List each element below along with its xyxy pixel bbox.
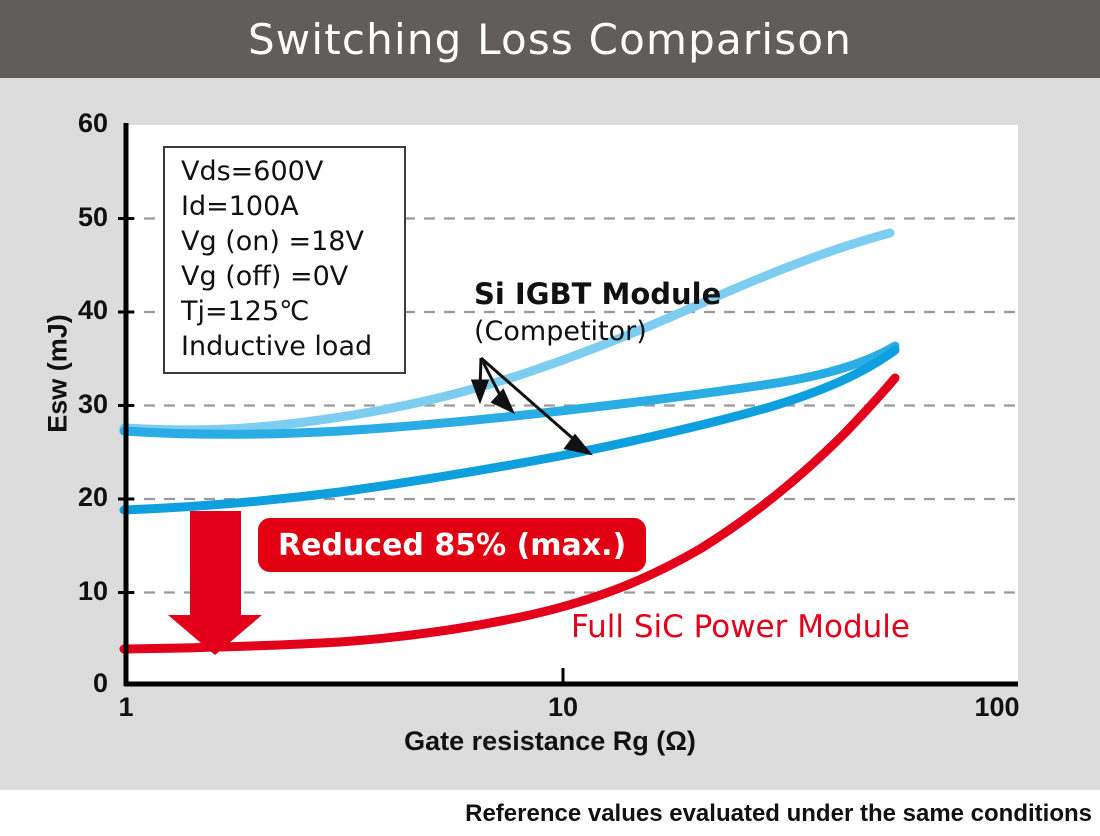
- xtick-label-100: 100: [957, 692, 1037, 723]
- reduced-badge: Reduced 85% (max.): [258, 518, 646, 572]
- title-bar: Switching Loss Comparison: [0, 0, 1100, 78]
- condition-line-vds: Vds=600V: [181, 154, 394, 189]
- conditions-box: Vds=600V Id=100A Vg (on) =18V Vg (off) =…: [163, 146, 406, 374]
- xtick-label-10: 10: [523, 692, 603, 723]
- series-sublabel-competitor: (Competitor): [474, 316, 647, 347]
- ytick-label-60: 60: [48, 108, 108, 139]
- footnote-text: Reference values evaluated under the sam…: [0, 800, 1092, 828]
- reduced-badge-text: Reduced 85% (max.): [278, 528, 626, 563]
- condition-line-id: Id=100A: [181, 189, 394, 224]
- page-title: Switching Loss Comparison: [248, 15, 852, 64]
- condition-line-vg-on: Vg (on) =18V: [181, 224, 394, 259]
- ytick-label-10: 10: [48, 576, 108, 607]
- ytick-label-20: 20: [48, 482, 108, 513]
- condition-line-vg-off: Vg (off) =0V: [181, 259, 394, 294]
- ytick-label-50: 50: [48, 202, 108, 233]
- x-axis-title: Gate resistance Rg (Ω): [0, 726, 1100, 757]
- series-label-full-sic: Full SiC Power Module: [571, 609, 910, 645]
- series-label-si-igbt: Si IGBT Module: [474, 277, 721, 311]
- condition-line-tj: Tj=125℃: [181, 294, 394, 329]
- chart-container: 60 50 40 30 20 10 0 1 10 100 Esw (mJ) Ga…: [0, 78, 1100, 790]
- y-axis-title: Esw (mJ): [43, 284, 74, 464]
- condition-line-load: Inductive load: [181, 329, 394, 364]
- xtick-label-1: 1: [86, 692, 166, 723]
